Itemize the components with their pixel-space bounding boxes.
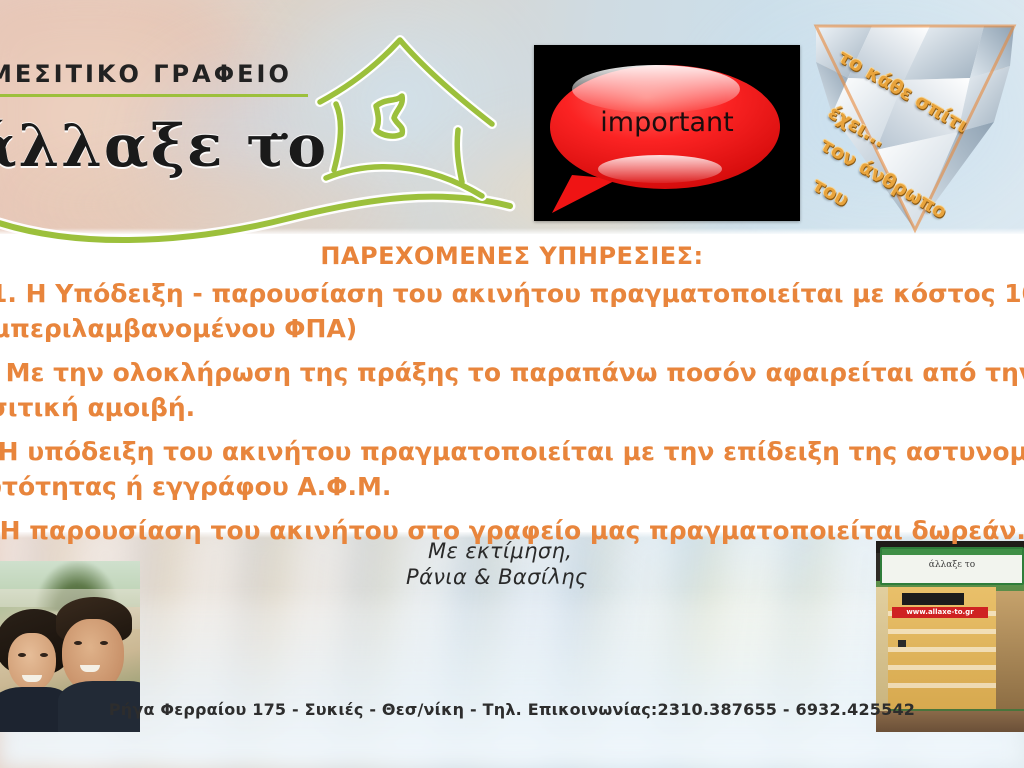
- services-section: ΠΑΡΕΧΟΜΕΝΕΣ ΥΠΗΡΕΣΙΕΣ: 1. Η Υπόδειξη - π…: [0, 234, 1024, 548]
- diamond-badge: το κάθε σπίτι έχει... τον άνθρωπο του: [812, 22, 1018, 234]
- shop-url-banner: www.allaxe-to.gr: [892, 607, 988, 618]
- house-outline-icon: [310, 30, 530, 230]
- photo-eye: [74, 641, 82, 645]
- photo-eye: [40, 653, 48, 657]
- logo-kicker-text: ΜΕΣΙΤΙΚΟ ΓΡΑΦΕΙΟ: [0, 60, 292, 88]
- shop-dark-sign: [902, 593, 964, 605]
- services-line: μεσιτική αμοιβή.: [0, 390, 1024, 425]
- logo-underline: [0, 94, 308, 97]
- diamond-line: του: [809, 173, 853, 211]
- important-label: important: [534, 107, 800, 138]
- services-line: 1. Η Υπόδειξη - παρουσίαση του ακινήτου …: [0, 276, 1024, 311]
- services-line: ταυτότητας ή εγγράφου Α.Φ.Μ.: [0, 469, 1024, 504]
- shop-shelf: [888, 629, 996, 634]
- services-spacer: [0, 346, 1024, 355]
- services-line: 3. Η υπόδειξη του ακινήτου πραγματοποιεί…: [0, 434, 1024, 469]
- shop-right-panel: [996, 591, 1024, 709]
- photo-eye: [100, 641, 108, 645]
- shop-shelf: [888, 665, 996, 670]
- services-title: ΠΑΡΕΧΟΜΕΝΕΣ ΥΠΗΡΕΣΙΕΣ:: [0, 242, 1024, 270]
- services-line: 2. Με την ολοκλήρωση της πράξης το παραπ…: [0, 355, 1024, 390]
- advertisement-poster: ΜΕΣΙΤΙΚΟ ΓΡΑΦΕΙΟ " άλλαξε το ¨: [0, 0, 1024, 768]
- shop-window: [888, 587, 996, 709]
- footer-phones[interactable]: 2310.387655 - 6932.425542: [658, 700, 916, 719]
- photo-eye: [18, 653, 26, 657]
- background-bottom-wash: [0, 600, 1024, 768]
- footer-address: Ρήγα Φερραίου 175 - Συκιές - Θεσ/νίκη - …: [109, 700, 658, 719]
- important-badge: important: [534, 45, 800, 221]
- services-line: (συμπεριλαμβανομένου ΦΠΑ): [0, 311, 1024, 346]
- services-spacer: [0, 425, 1024, 434]
- footer-contact: Ρήγα Φερραίου 175 - Συκιές - Θεσ/νίκη - …: [0, 700, 1024, 719]
- shop-shelf: [888, 647, 996, 652]
- signature-line-2: Ράνια & Βασίλης: [406, 564, 1024, 590]
- shop-listing-tile: [898, 640, 906, 647]
- services-line-list: 1. Η Υπόδειξη - παρουσίαση του ακινήτου …: [0, 276, 1024, 548]
- signature-block: Με εκτίμηση, Ράνια & Βασίλης: [0, 538, 1024, 590]
- services-spacer: [0, 504, 1024, 513]
- photo-face-left: [8, 633, 56, 691]
- company-logo: ΜΕΣΙΤΙΚΟ ΓΡΑΦΕΙΟ " άλλαξε το ¨: [0, 34, 520, 224]
- diamond-text-block: το κάθε σπίτι έχει... τον άνθρωπο του: [812, 22, 1018, 234]
- signature-line-1: Με εκτίμηση,: [428, 538, 1024, 564]
- diamond-line: τον άνθρωπο: [817, 133, 951, 223]
- shop-shelf: [888, 683, 996, 688]
- shop-url-text: www.allaxe-to.gr: [892, 608, 988, 616]
